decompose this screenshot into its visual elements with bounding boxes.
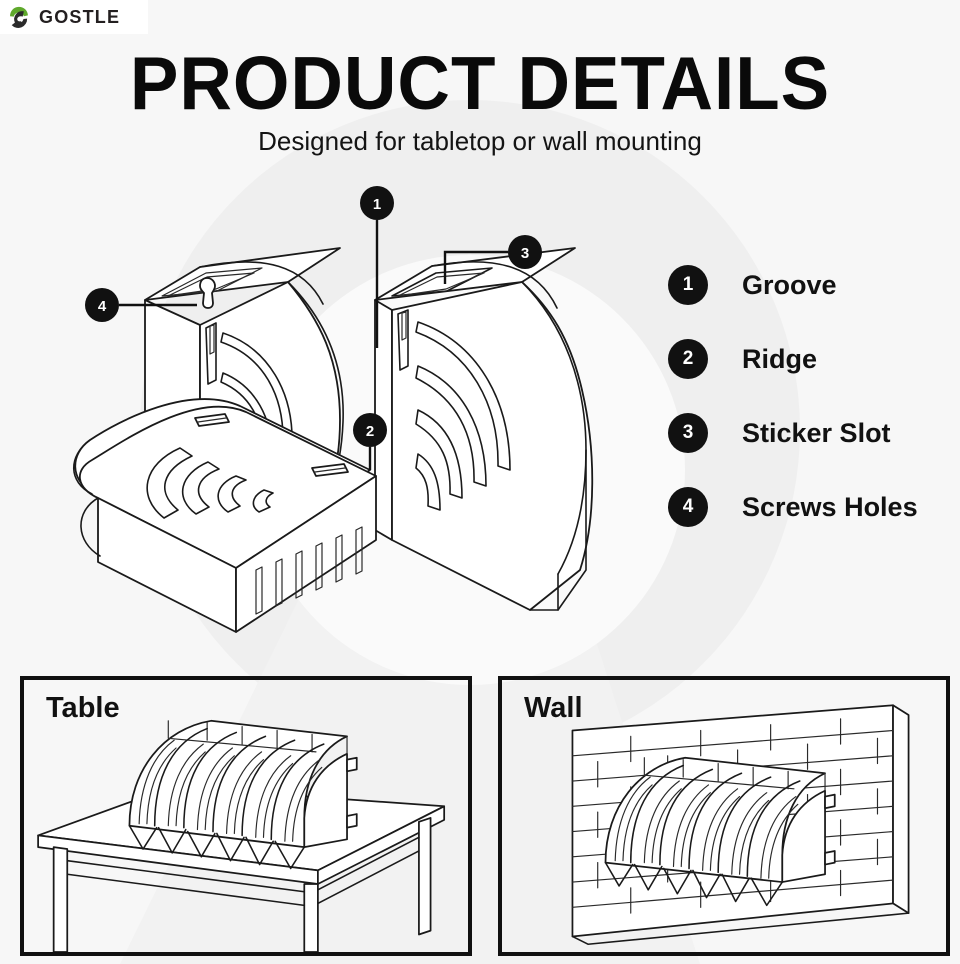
svg-text:3: 3: [521, 245, 529, 262]
page-header: PRODUCT DETAILS Designed for tabletop or…: [0, 44, 960, 156]
panel-table-title: Table: [46, 692, 120, 725]
legend-label: Groove: [742, 270, 837, 301]
svg-text:4: 4: [98, 298, 107, 315]
feature-legend: 1 Groove 2 Ridge 3 Sticker Slot 4 Screws…: [668, 248, 958, 544]
legend-item-ridge: 2 Ridge: [668, 322, 958, 396]
legend-item-sticker-slot: 3 Sticker Slot: [668, 396, 958, 470]
legend-number-badge: 1: [668, 265, 708, 305]
legend-number-badge: 4: [668, 487, 708, 527]
legend-label: Ridge: [742, 344, 817, 375]
legend-number-badge: 3: [668, 413, 708, 453]
brand-logo-badge: GOSTLE: [0, 0, 148, 34]
legend-number-badge: 2: [668, 339, 708, 379]
product-details-page: GOSTLE PRODUCT DETAILS Designed for tabl…: [0, 0, 960, 964]
page-subtitle: Designed for tabletop or wall mounting: [0, 126, 960, 156]
swirl-logo-icon: [6, 4, 32, 30]
panel-table: Table: [20, 676, 472, 956]
legend-label: Screws Holes: [742, 492, 918, 523]
svg-text:1: 1: [373, 196, 381, 213]
mounting-panels: Table: [0, 676, 960, 958]
product-exploded-diagram: 1 2 3 4: [40, 170, 700, 670]
right-unit-illustration: [375, 248, 592, 610]
svg-text:2: 2: [366, 423, 374, 440]
legend-item-groove: 1 Groove: [668, 248, 958, 322]
legend-label: Sticker Slot: [742, 418, 891, 449]
legend-item-screws-holes: 4 Screws Holes: [668, 470, 958, 544]
panel-wall-title: Wall: [524, 692, 583, 725]
brand-name: GOSTLE: [39, 7, 120, 28]
panel-wall: Wall: [498, 676, 950, 956]
page-title: PRODUCT DETAILS: [14, 44, 945, 122]
